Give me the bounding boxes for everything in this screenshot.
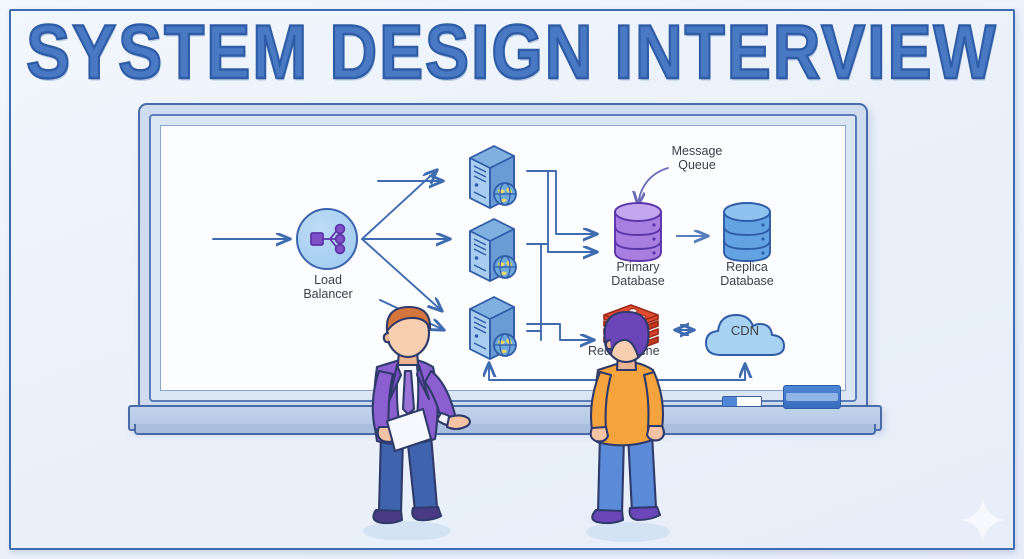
app-server-1 (460, 140, 522, 212)
whiteboard-tray-lip (134, 424, 876, 435)
app-server-2 (460, 213, 522, 285)
database-cylinder-icon (716, 196, 778, 268)
sparkle-icon (960, 497, 1006, 543)
person-interviewer (345, 305, 475, 540)
replica-database-label: Replica Database (699, 261, 795, 288)
primary-database-node (607, 196, 669, 268)
whiteboard-eraser-icon (783, 385, 841, 409)
message-queue-annotation: Message Queue (653, 145, 741, 172)
load-balancer-label: Load Balancer (276, 274, 380, 301)
person-candidate (570, 310, 682, 542)
database-cylinder-icon (607, 196, 669, 268)
load-balancer-icon (296, 208, 358, 270)
illustration-canvas: SYSTEM DESIGN INTERVIEW (0, 0, 1024, 559)
shadow (363, 521, 451, 540)
server-globe-icon (460, 140, 522, 212)
server-globe-icon (460, 213, 522, 285)
page-title: SYSTEM DESIGN INTERVIEW (0, 16, 1024, 92)
replica-database-node (716, 196, 778, 268)
whiteboard-marker-icon (722, 396, 762, 407)
load-balancer-node (296, 208, 358, 270)
cdn-label: CDN (699, 324, 791, 338)
shadow (586, 522, 670, 542)
primary-database-label: Primary Database (590, 261, 686, 288)
